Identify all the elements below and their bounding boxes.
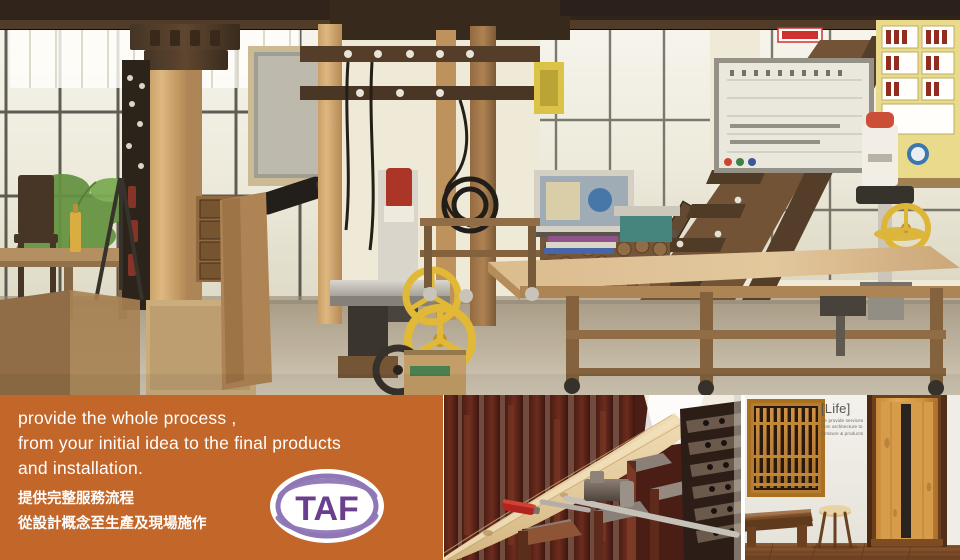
right-illustration — [745, 395, 960, 560]
taf-wordmark: TAF — [295, 490, 359, 528]
banner-page: provide the whole process , from your in… — [0, 0, 960, 560]
taf-logo: TAF — [268, 466, 386, 546]
mid-illustration — [444, 395, 741, 560]
hero-illustration — [0, 0, 960, 395]
hero-photo-workshop — [0, 0, 960, 395]
panel-photo-clamped-beam — [444, 395, 741, 560]
bottom-strip: provide the whole process , from your in… — [0, 395, 960, 560]
caption-en-line-1: provide the whole process , — [18, 406, 418, 431]
taf-logo-mark: TAF — [268, 466, 386, 546]
panel-photo-interior-life: [Life] we provide services from architec… — [745, 395, 960, 560]
caption-en-line-2: from your initial idea to the final prod… — [18, 431, 418, 456]
